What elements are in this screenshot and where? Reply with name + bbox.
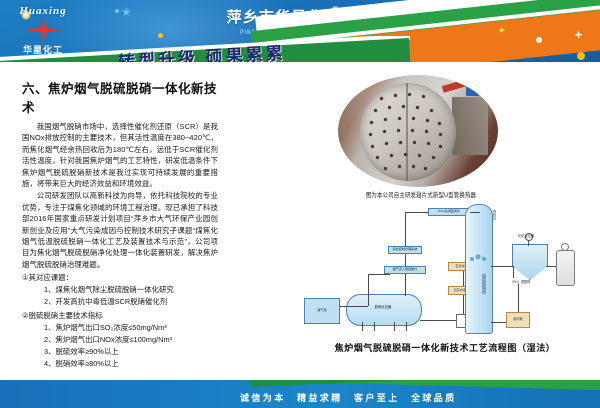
node-ph-vessel-top xyxy=(561,243,569,251)
page-title: 六、焦炉烟气脱硫脱硝一体化新技术 xyxy=(22,78,218,116)
node-desulfurization-tower xyxy=(465,204,493,334)
page-body: 六、焦炉烟气脱硫脱硝一体化新技术 我国烟气脱硝市场中，选择性催化剂还原（SCR）… xyxy=(0,62,600,380)
list-item: 2、开发高抗中毒低温SCR脱硝催化剂 xyxy=(22,296,218,308)
list-item: 1、煤焦化烟气除尘脱硫脱硝一体化研究 xyxy=(22,284,218,296)
node-oxidation-reactor-label: 氧化反应器 xyxy=(518,235,534,239)
process-flow-diagram: 焦气源 NOx在线监测仪 综合控制管理系统 烟气流入量控制仪 脱硝反应器 石灰水… xyxy=(300,202,590,350)
list-item: 1、焦炉烟气出口SO₂浓度≤50mg/Nm³ xyxy=(22,322,218,334)
photo-caption: 图为本公司自主研发翅片式新型U型管换热器 xyxy=(316,190,526,200)
logo-core-glow xyxy=(21,10,31,20)
node-flow-controller: 烟气流入量控制仪 xyxy=(384,266,426,274)
star-icon: ★ xyxy=(121,6,132,18)
footer-slogan: 诚信为本 精益求精 客户至上 全球品质 xyxy=(240,391,590,404)
list-item: 4、脱硝效率≥80%以上 xyxy=(22,358,218,370)
header-dot-small xyxy=(115,9,119,13)
tube-sheet-seam xyxy=(406,83,408,181)
node-gas-source: 焦气源 xyxy=(304,298,340,324)
article-paragraph-2: 公司研发团队以高新科技为向导，依托科技院校的专业优势，专注于煤焦化领域的环境工程… xyxy=(22,190,218,270)
photo-image xyxy=(338,75,498,187)
diagram-caption-text: 焦炉烟气脱硫脱硝一体化新技术工艺流程图（湿法） xyxy=(335,343,556,353)
tower-spray-icon xyxy=(468,254,488,261)
node-oxidation-reactor xyxy=(512,244,548,280)
tube-sheet xyxy=(360,83,456,181)
node-desulfurization-tower-label: 脱硫脱硝塔 xyxy=(469,274,487,294)
article-column: 六、焦炉烟气脱硫脱硝一体化新技术 我国烟气脱硝市场中，选择性催化剂还原（SCR）… xyxy=(22,78,218,370)
node-circulation-pump: 循环泵 xyxy=(506,312,530,328)
photo-blue-box xyxy=(466,83,479,96)
node-control-system: 综合控制管理系统 xyxy=(388,246,422,254)
photo-grey-frame xyxy=(452,97,488,155)
stack-outlet-label: 排空口 xyxy=(492,210,496,220)
heat-exchanger-photo xyxy=(338,75,498,187)
article-paragraph-1: 我国烟气脱硝市场中，选择性催化剂还原（SCR）是我国NOx排放控制的主要技术，但… xyxy=(22,121,218,189)
section2-heading: ②脱硫脱硝主要技术指标 xyxy=(22,310,218,322)
list-item: 3、脱硫效率≥90%以上 xyxy=(22,346,218,358)
diagram-caption: 焦炉烟气脱硫脱硝一体化新技术工艺流程图（湿法） xyxy=(300,338,590,356)
node-denitration-reactor xyxy=(346,294,422,326)
page-footer: 诚信为本 精益求精 客户至上 全球品质 xyxy=(0,380,600,408)
list-item: 2、焦炉烟气出口NOx浓度≤100mg/Nm³ xyxy=(22,334,218,346)
node-nox-monitor: NOx在线监测仪 xyxy=(428,208,470,216)
section1-heading: ①其对应课题： xyxy=(22,272,218,284)
node-ph-tank-label: （PH）调整槽 xyxy=(510,281,530,285)
node-ph-vessel xyxy=(556,250,575,286)
